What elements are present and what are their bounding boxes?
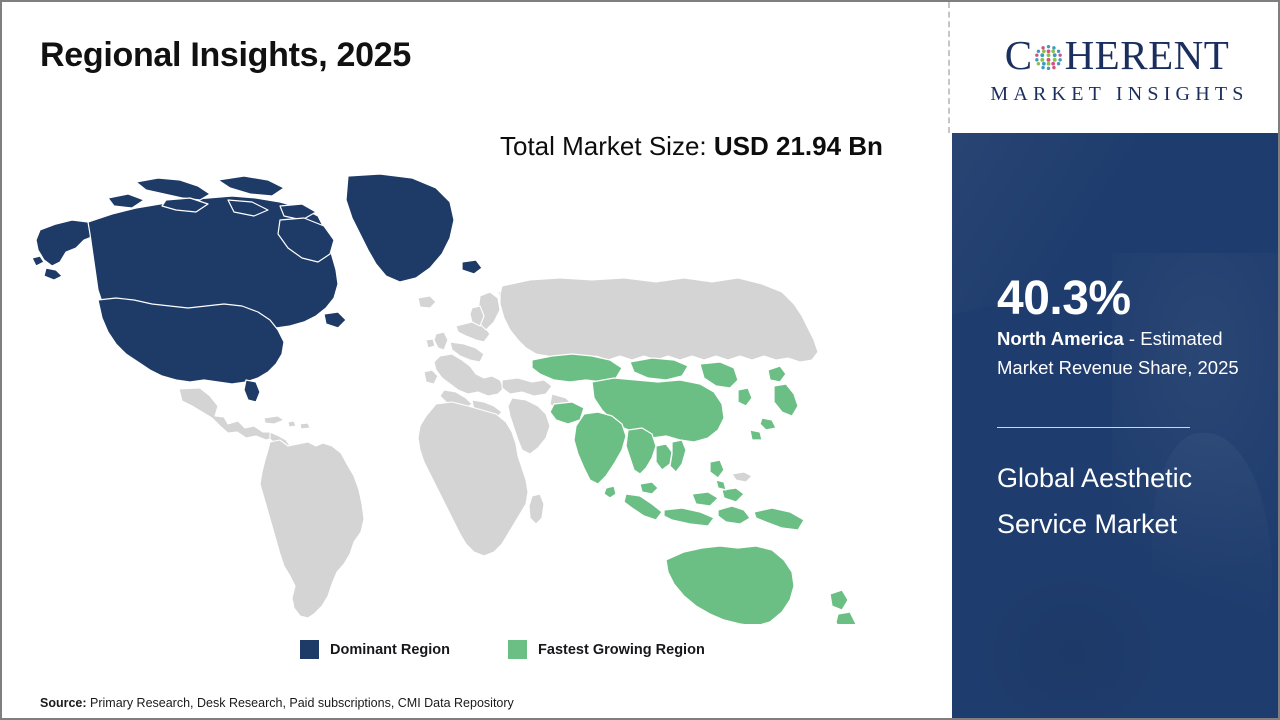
market-size-label: Total Market Size: (500, 131, 714, 161)
market-size-value: USD 21.94 Bn (714, 131, 883, 161)
globe-dots-icon (1033, 42, 1064, 73)
page-title: Regional Insights, 2025 (40, 36, 411, 75)
stat-side-panel: 40.3% North America - Estimated Market R… (952, 133, 1280, 720)
logo-tagline: MARKET INSIGHTS (967, 83, 1267, 106)
left-content-panel: Regional Insights, 2025 Total Market Siz… (2, 2, 949, 718)
source-note: Source: Primary Research, Desk Research,… (40, 696, 514, 710)
vertical-dashed-divider (948, 2, 950, 133)
regional-insights-slide: Regional Insights, 2025 Total Market Siz… (0, 0, 1280, 720)
stat-region-name: North America (997, 328, 1124, 349)
map-region-asia-pacific (532, 354, 856, 624)
brand-logo-area: C (952, 2, 1280, 133)
coherent-market-insights-logo: C (967, 30, 1267, 106)
logo-word-part1: C (1005, 35, 1033, 76)
legend-label: Fastest Growing Region (538, 642, 705, 658)
map-legend: Dominant Region Fastest Growing Region (300, 640, 705, 659)
logo-wordmark: C (967, 34, 1267, 78)
legend-item-dominant: Dominant Region (300, 640, 450, 659)
square-swatch-icon (300, 640, 319, 659)
source-text: Primary Research, Desk Research, Paid su… (87, 696, 514, 710)
square-swatch-icon (508, 640, 527, 659)
stat-percentage: 40.3% (997, 275, 1131, 323)
total-market-size: Total Market Size: USD 21.94 Bn (500, 128, 904, 166)
world-map (32, 174, 912, 624)
market-name: Global Aesthetic Service Market (997, 455, 1247, 548)
map-region-north-america (32, 174, 482, 402)
world-map-svg (32, 174, 912, 624)
stat-description: North America - Estimated Market Revenue… (997, 325, 1265, 383)
panel-texture (972, 563, 1172, 720)
source-label: Source: (40, 696, 87, 710)
panel-divider-rule (997, 427, 1190, 428)
logo-word-part2: HERENT (1065, 35, 1230, 76)
legend-item-fastest-growing: Fastest Growing Region (508, 640, 705, 659)
legend-label: Dominant Region (330, 642, 450, 658)
